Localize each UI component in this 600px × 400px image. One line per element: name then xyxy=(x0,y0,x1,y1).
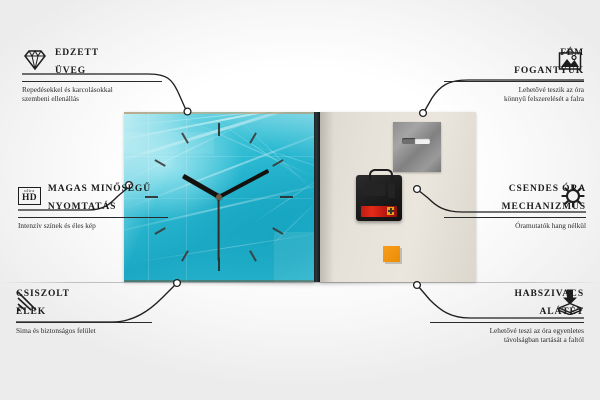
feature-title-line2: NYOMTATÁS xyxy=(48,202,116,212)
feature-divider xyxy=(430,322,584,323)
hanger-slot xyxy=(402,138,430,144)
feature-polished-edges: CSISZOLT ÉLEK Sima és biztonságos felüle… xyxy=(16,283,152,335)
feature-desc-line1: Sima és biztonságos felület xyxy=(16,326,152,335)
feature-title-line1: MAGAS MINŐSÉGŰ xyxy=(48,184,151,194)
product-infographic: EDZETT ÜVEG Repedésekkel és karcolásokka… xyxy=(0,0,600,400)
clock-mechanism xyxy=(356,175,402,221)
feature-metal-handles: FÉM FOGANTYÚK Lehetővé teszik az óra kön… xyxy=(444,42,584,103)
feature-desc-line2: szembeni ellenállás xyxy=(22,94,162,103)
feature-desc-line1: Repedésekkel és karcolásokkal xyxy=(22,85,162,94)
feature-divider xyxy=(18,217,168,218)
picture-hanger-icon xyxy=(556,47,584,73)
feature-desc-line2: könnyű felszerelését a falra xyxy=(444,94,584,103)
feature-desc-line2: távolságban tartását a faltól xyxy=(430,335,584,344)
feature-high-quality-print: ultra HD MAGAS MINŐSÉGŰ NYOMTATÁS Intenz… xyxy=(18,178,168,230)
metal-hanger-plate xyxy=(393,122,441,172)
feature-divider xyxy=(444,217,586,218)
feature-title-line2: ÜVEG xyxy=(55,66,86,76)
mechanism-hook xyxy=(369,169,393,181)
product-photo xyxy=(124,112,476,282)
feature-divider xyxy=(444,81,584,82)
back-panel-shading xyxy=(320,112,334,282)
feature-foam-pad: HABSZIVACS ALÁTÉT Lehetővé teszi az óra … xyxy=(430,283,584,344)
feature-desc-line1: Lehetővé teszik az óra xyxy=(444,85,584,94)
ultra-hd-icon-big-label: HD xyxy=(22,194,37,204)
battery-terminal xyxy=(387,207,394,215)
feature-title-line1: EDZETT xyxy=(55,48,99,58)
ultra-hd-icon: ultra HD xyxy=(18,187,41,205)
polished-edges-icon xyxy=(16,289,40,313)
feature-divider xyxy=(16,322,152,323)
foam-pad xyxy=(383,246,400,262)
diamond-icon xyxy=(22,48,48,72)
gear-icon xyxy=(560,183,586,209)
clock-center-cap xyxy=(216,194,222,200)
feature-tempered-glass: EDZETT ÜVEG Repedésekkel és karcolásokka… xyxy=(22,42,162,103)
foam-pad-icon xyxy=(556,288,584,315)
mechanism-detail-left xyxy=(363,184,385,196)
feature-desc-line1: Óramutatók hang nélkül xyxy=(444,221,586,230)
mechanism-detail-right xyxy=(388,184,395,198)
battery xyxy=(361,206,397,217)
feature-desc-line1: Lehetővé teszi az óra egyenletes xyxy=(430,326,584,335)
feature-desc-line1: Intenzív színek és éles kép xyxy=(18,221,168,230)
clock-second-hand xyxy=(218,197,220,261)
feature-silent-mechanism: CSENDES ÓRA MECHANIZMUS Óramutatók hang … xyxy=(444,178,586,230)
feature-divider xyxy=(22,81,162,82)
